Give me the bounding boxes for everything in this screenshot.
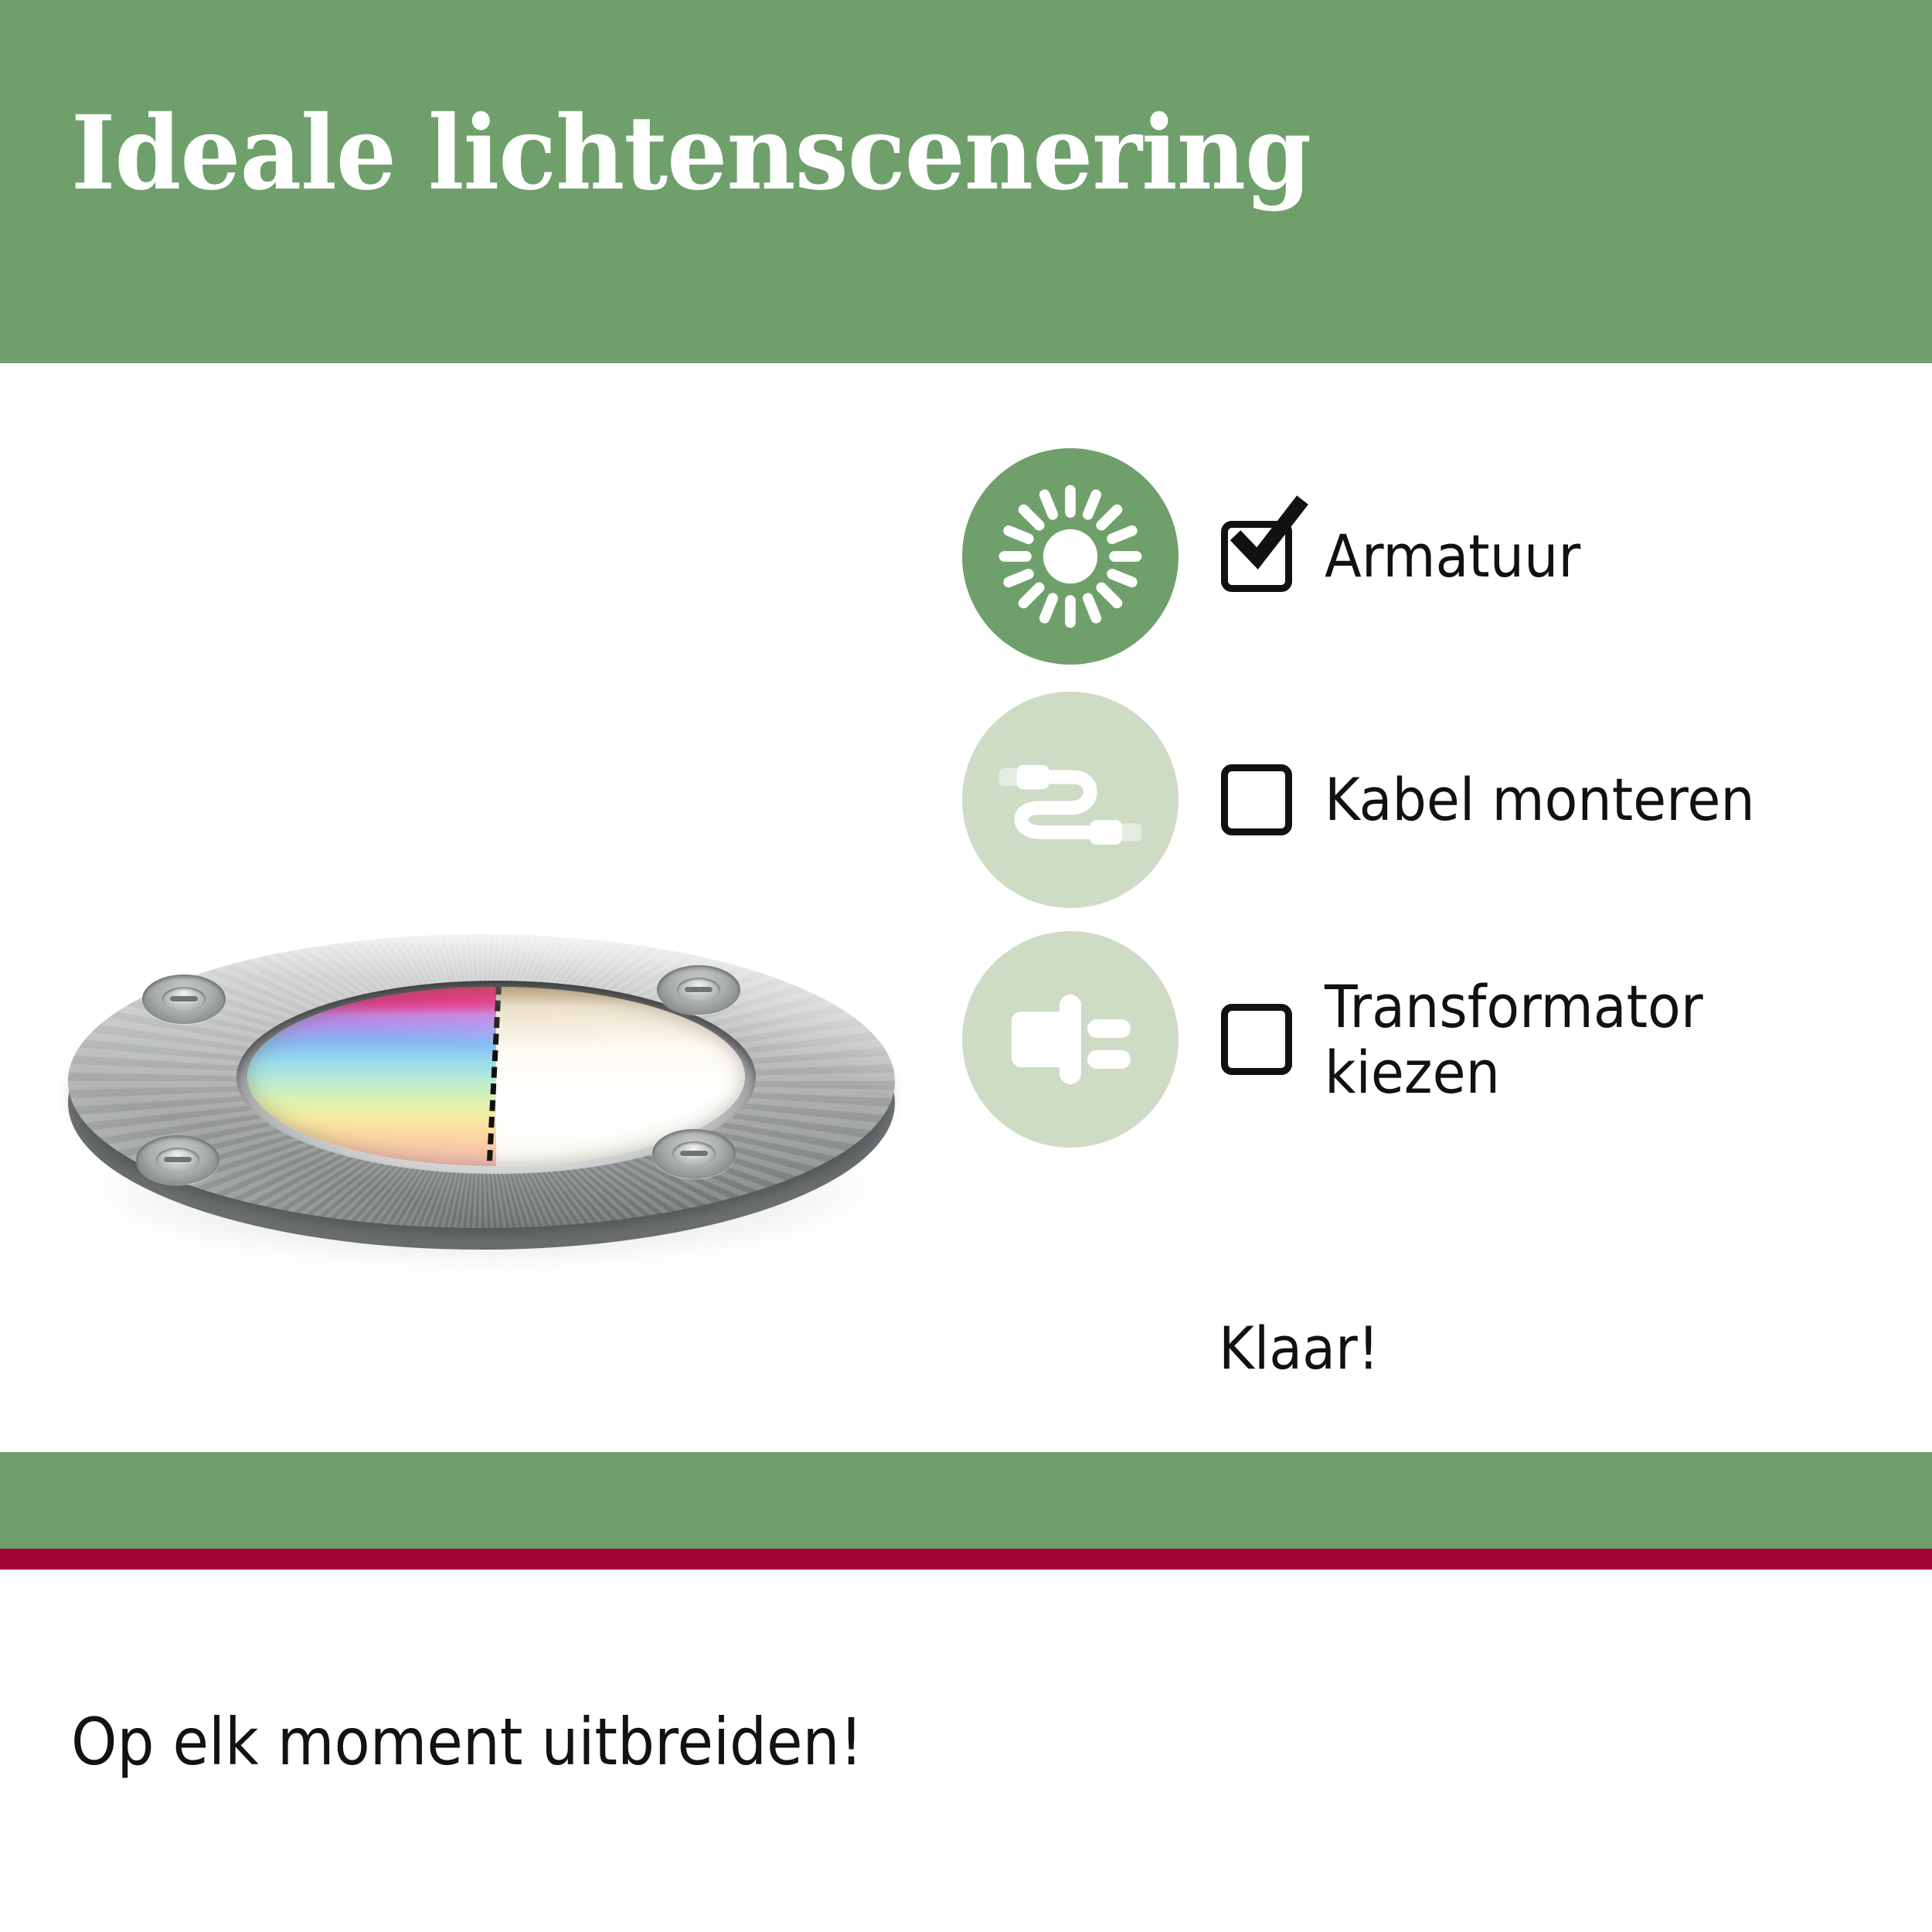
checklist-item-transformator[interactable]: Transformator kiezen xyxy=(962,920,1889,1159)
sun-icon-badge xyxy=(962,448,1179,665)
sun-icon xyxy=(997,483,1144,630)
checkmark-icon xyxy=(1223,494,1308,579)
installation-checklist: Armatuur Kabel monteren xyxy=(962,433,1889,1159)
checkbox-kabel[interactable] xyxy=(1221,764,1292,835)
screw-slot xyxy=(680,1151,708,1156)
checkbox-armatuur[interactable] xyxy=(1221,521,1292,592)
screw-slot xyxy=(164,1157,192,1162)
footer-red-accent-band xyxy=(0,1549,1932,1570)
product-image xyxy=(54,916,912,1279)
checklist-row-content: Armatuur xyxy=(1221,521,1603,592)
cable-icon xyxy=(989,719,1151,881)
screw-slot xyxy=(685,987,713,992)
checklist-row-content: Transformator kiezen xyxy=(1221,974,1736,1105)
plug-icon xyxy=(993,962,1148,1117)
fixture-screw xyxy=(136,1135,219,1185)
plug-icon-badge xyxy=(962,931,1179,1148)
done-label: Klaar! xyxy=(1219,1314,1379,1383)
footer-tagline: Op elk moment uitbreiden! xyxy=(71,1709,863,1774)
fixture-screw xyxy=(657,965,740,1015)
checkbox-transformator[interactable] xyxy=(1221,1004,1292,1075)
checklist-item-kabel[interactable]: Kabel monteren xyxy=(962,680,1889,920)
page-title: Ideale lichtenscenering xyxy=(71,103,1311,205)
checklist-label-kabel: Kabel monteren xyxy=(1325,767,1755,832)
checklist-label-transformator: Transformator kiezen xyxy=(1325,974,1703,1105)
checklist-label-armatuur: Armatuur xyxy=(1325,523,1580,589)
checklist-item-armatuur[interactable]: Armatuur xyxy=(962,433,1889,680)
fixture-steel-ring xyxy=(68,934,895,1228)
checklist-row-content: Kabel monteren xyxy=(1221,764,1792,835)
footer-green-band xyxy=(0,1452,1932,1549)
fixture-screw xyxy=(142,975,226,1024)
fixture-screw xyxy=(652,1129,736,1179)
screw-slot xyxy=(170,996,198,1002)
cable-icon-badge xyxy=(962,692,1179,908)
